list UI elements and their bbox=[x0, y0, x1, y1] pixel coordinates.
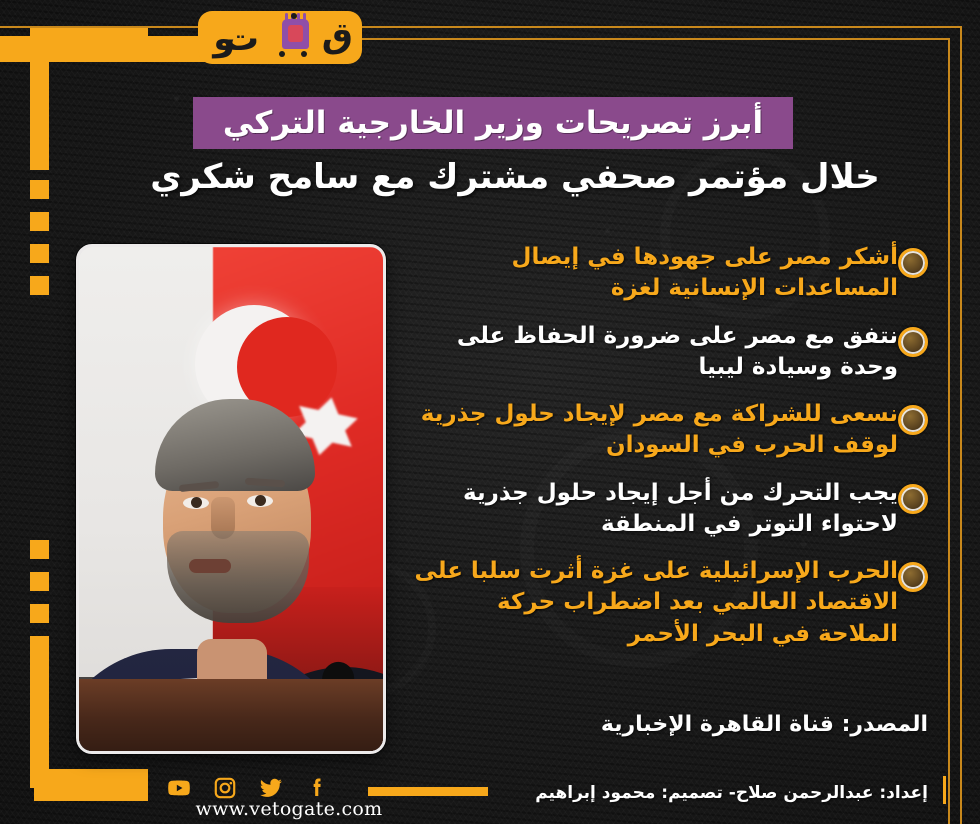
footer-bar-right bbox=[368, 787, 488, 796]
list-item-text: أشكر مصر على جهودها في إيصال المساعدات ا… bbox=[400, 242, 898, 305]
dash-segment bbox=[30, 540, 49, 559]
logo-dot bbox=[291, 13, 297, 19]
headline-secondary-text: خلال مؤتمر صحفي مشترك مع سامح شكري bbox=[150, 157, 880, 197]
list-item: يجب التحرك من أجل إيجاد حلول جذرية لاحتو… bbox=[400, 478, 928, 541]
list-item: نتفق مع مصر على ضرورة الحفاظ على وحدة وس… bbox=[400, 321, 928, 384]
minister-photo bbox=[76, 244, 386, 754]
dash-segment bbox=[30, 276, 49, 295]
infographic-poster: ق ت و أبرز تصريحات وزير الخارجية التركي … bbox=[0, 0, 980, 824]
bullet-dot-icon bbox=[898, 562, 928, 592]
pupil-left bbox=[191, 497, 202, 508]
hand-icon bbox=[282, 19, 309, 49]
footer-bar-left bbox=[34, 779, 148, 801]
list-item-text: يجب التحرك من أجل إيجاد حلول جذرية لاحتو… bbox=[400, 478, 898, 541]
source-line: المصدر: قناة القاهرة الإخبارية bbox=[601, 712, 928, 737]
statements-list: أشكر مصر على جهودها في إيصال المساعدات ا… bbox=[400, 242, 928, 666]
website-url[interactable]: www.vetogate.com bbox=[174, 798, 404, 820]
credit-divider bbox=[943, 776, 946, 804]
logo-wordmark: ق ت و bbox=[205, 17, 355, 59]
dash-segment bbox=[30, 180, 49, 199]
bullet-dot-icon bbox=[898, 484, 928, 514]
headline-primary: أبرز تصريحات وزير الخارجية التركي bbox=[193, 97, 793, 149]
headline-secondary: خلال مؤتمر صحفي مشترك مع سامح شكري bbox=[120, 152, 910, 202]
wooden-podium bbox=[79, 679, 383, 751]
logo-dot bbox=[301, 51, 307, 57]
credit-line: إعداد: عبدالرحمن صلاح- تصميم: محمود إبرا… bbox=[535, 783, 928, 803]
dash-segment bbox=[30, 604, 49, 623]
dash-segment bbox=[30, 212, 49, 231]
bullet-dot-icon bbox=[898, 327, 928, 357]
headline-primary-text: أبرز تصريحات وزير الخارجية التركي bbox=[223, 105, 763, 141]
dash-segment bbox=[30, 572, 49, 591]
list-item: نسعى للشراكة مع مصر لإيجاد حلول جذرية لو… bbox=[400, 399, 928, 462]
logo-letter-qaf: ق bbox=[322, 16, 353, 56]
dash-segment bbox=[30, 244, 49, 263]
bullet-dot-icon bbox=[898, 405, 928, 435]
site-logo[interactable]: ق ت و bbox=[198, 11, 362, 64]
list-item-text: نسعى للشراكة مع مصر لإيجاد حلول جذرية لو… bbox=[400, 399, 898, 462]
list-item-text: نتفق مع مصر على ضرورة الحفاظ على وحدة وس… bbox=[400, 321, 898, 384]
logo-dot bbox=[279, 51, 285, 57]
logo-tail-bar bbox=[0, 36, 210, 62]
mouth bbox=[189, 559, 231, 573]
corner-bracket-bottom-left-vertical bbox=[30, 645, 49, 788]
list-item-text: الحرب الإسرائيلية على غزة أثرت سلبا على … bbox=[400, 556, 898, 650]
bullet-dot-icon bbox=[898, 248, 928, 278]
logo-letter-waw: و bbox=[213, 19, 235, 59]
pupil-right bbox=[255, 495, 266, 506]
list-item: أشكر مصر على جهودها في إيصال المساعدات ا… bbox=[400, 242, 928, 305]
list-item: الحرب الإسرائيلية على غزة أثرت سلبا على … bbox=[400, 556, 928, 650]
